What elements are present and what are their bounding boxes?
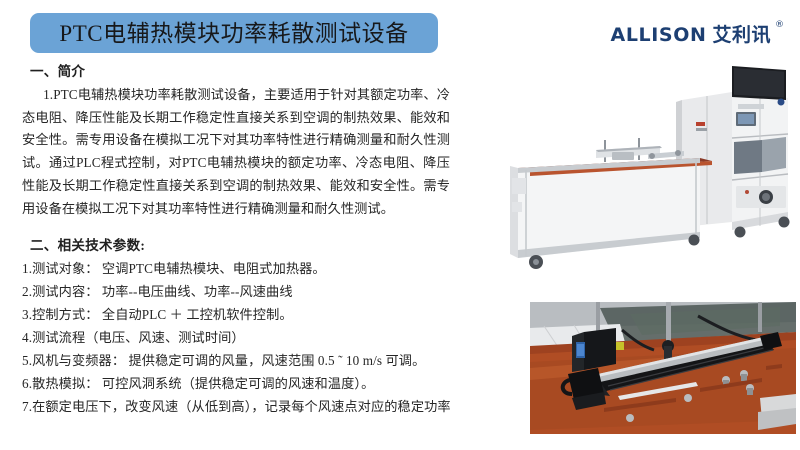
brand-logo: ALLISON 艾利讯 ® [611, 26, 784, 45]
list-item: 6.散热模拟： 可控风洞系统（提供稳定可调的风速和温度）。 [22, 373, 450, 396]
list-item: 3.控制方式： 全自动PLC ＋ 工控机软件控制。 [22, 304, 450, 327]
list-item: 7.在额定电压下，改变风速（从低到高），记录每个风速点对应的稳定功率 [22, 396, 450, 419]
params-list: 1.测试对象： 空调PTC电辅热模块、电阻式加热器。 2.测试内容： 功率--电… [22, 258, 450, 419]
brand-chinese-text: 艾利讯 [712, 26, 771, 45]
list-item: 2.测试内容： 功率--电压曲线、功率--风速曲线 [22, 281, 450, 304]
intro-paragraph: 1.PTC电辅热模块功率耗散测试设备，主要适用于针对其额定功率、冷态电阻、降压性… [22, 84, 450, 220]
page-title-banner: PTC电辅热模块功率耗散测试设备 [30, 13, 438, 53]
list-item: 1.测试对象： 空调PTC电辅热模块、电阻式加热器。 [22, 258, 450, 281]
params-heading: 二、相关技术参数: [30, 234, 450, 254]
list-item: 5.风机与变频器： 提供稳定可调的风量，风速范围 0.5 ˜ 10 m/s 可调… [22, 350, 450, 373]
page-title: PTC电辅热模块功率耗散测试设备 [59, 22, 408, 45]
equipment-photo [500, 62, 796, 280]
intro-heading: 一、简介 [30, 60, 450, 80]
list-item: 4.测试流程（电压、风速、测试时间） [22, 327, 450, 350]
heater-sample-photo [530, 302, 796, 434]
registered-trademark-icon: ® [775, 21, 784, 30]
heater-sample-photo-graphic [530, 302, 796, 434]
equipment-photo-graphic [500, 62, 796, 280]
brand-latin-text: ALLISON [611, 26, 707, 45]
content-text-column: 一、简介 1.PTC电辅热模块功率耗散测试设备，主要适用于针对其额定功率、冷态电… [22, 60, 450, 419]
